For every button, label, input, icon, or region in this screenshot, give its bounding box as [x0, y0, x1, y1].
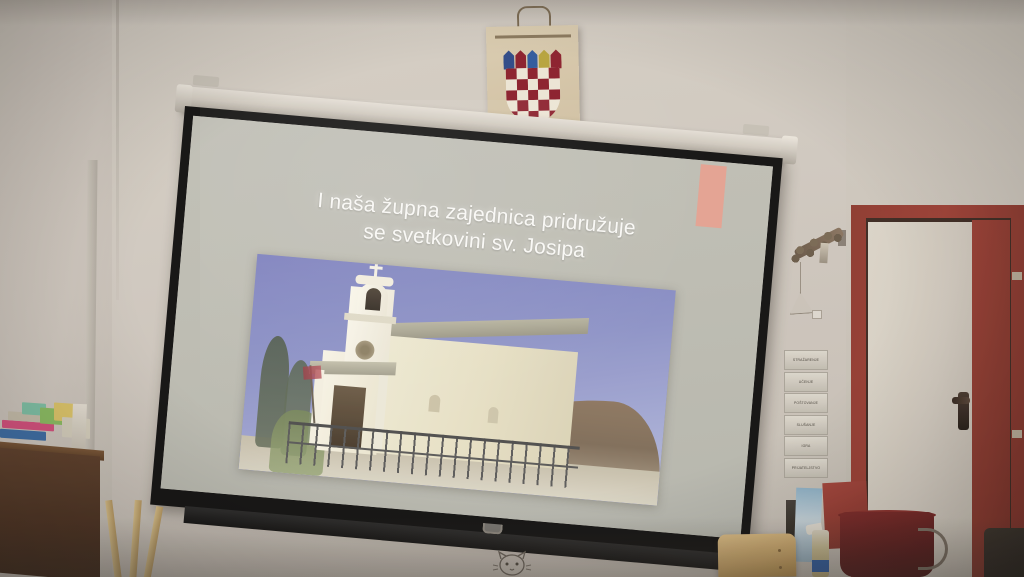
slide-accent-block [695, 164, 726, 228]
door-hinge-bottom [1012, 430, 1022, 438]
projection-screen-assembly: I naša župna zajednica pridružuje se sve… [183, 86, 793, 526]
flag-icon [303, 365, 322, 379]
presentation-slide: I naša župna zajednica pridružuje se sve… [161, 116, 773, 539]
crest-square [527, 68, 538, 79]
crest-square [506, 68, 517, 79]
small-wall-hook [812, 310, 822, 319]
pocket-chart-row[interactable]: STRAŽARENJE [784, 350, 828, 370]
crownlet-3 [527, 50, 538, 69]
church-window-2 [488, 407, 499, 424]
pocket-chart-label: STRAŽARENJE [793, 358, 819, 363]
pocket-chart-row[interactable]: POŠTOVANJE [784, 393, 828, 413]
wall-corner-seam [116, 0, 119, 300]
pocket-chart-row[interactable]: UČENJE [784, 372, 828, 392]
screen-bracket-right [743, 124, 770, 136]
pocket-chart-label: PRIJATELJSTVO [792, 466, 820, 471]
book-1 [0, 429, 46, 441]
door-hinge-top [1012, 272, 1022, 280]
crest-square [516, 68, 527, 79]
hanging-tag [819, 243, 828, 264]
ornament-string [800, 262, 801, 294]
door-handle-lever[interactable] [952, 397, 970, 404]
ceiling-shadow [0, 0, 1024, 26]
screen-bracket-left [193, 75, 220, 87]
crest-square [549, 67, 560, 78]
pocket-chart-row[interactable]: SLUŠANJE [784, 415, 828, 435]
classroom-scene: I naša župna zajednica pridružuje se sve… [0, 0, 1024, 577]
pocket-chart-row[interactable]: IGRA [784, 436, 828, 456]
crownlet-4 [539, 50, 550, 69]
crownlet-5 [550, 49, 561, 68]
church-window-1 [428, 394, 440, 412]
classroom-pocket-chart[interactable]: STRAŽARENJEUČENJEPOŠTOVANJESLUŠANJEIGRAP… [784, 350, 830, 480]
belfry-bell-opening [365, 288, 382, 311]
pocket-chart-label: SLUŠANJE [797, 422, 816, 427]
crest-square [538, 68, 549, 79]
floor-shadow [0, 517, 1024, 577]
screen-border: I naša župna zajednica pridružuje se sve… [150, 106, 783, 557]
pocket-chart-row[interactable]: PRIJATELJSTVO [784, 458, 828, 478]
pocket-chart-label: POŠTOVANJE [794, 401, 818, 406]
pocket-chart-label: IGRA [802, 444, 811, 449]
roller-end-cap-right [780, 135, 798, 164]
crownlet-2 [515, 50, 526, 69]
screen-surface: I naša župna zajednica pridružuje se sve… [161, 116, 773, 539]
pocket-chart-label: UČENJE [799, 379, 813, 384]
crownlet-1 [503, 50, 514, 69]
slide-church-photo [239, 254, 676, 506]
